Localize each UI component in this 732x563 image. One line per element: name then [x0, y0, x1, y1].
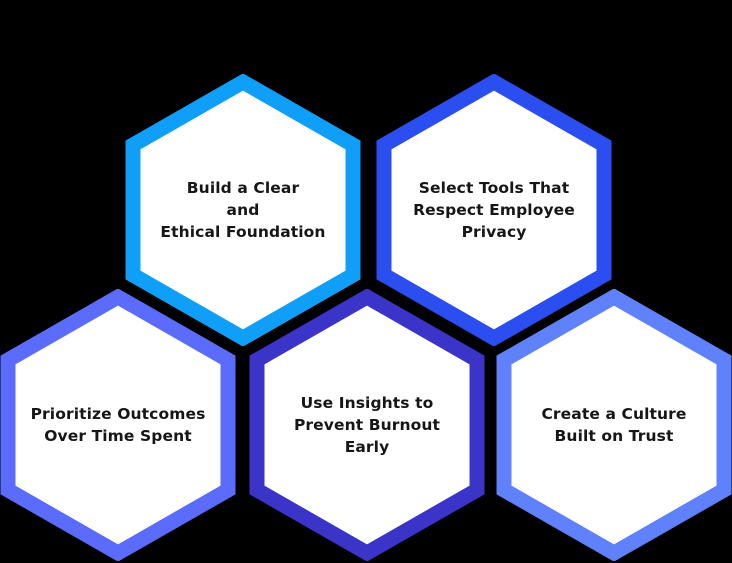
hexagon-shape-4: [249, 289, 485, 561]
hexagon-node-4[interactable]: Use Insights to Prevent Burnout Early: [249, 289, 485, 561]
hexagon-node-5[interactable]: Create a Culture Built on Trust: [496, 289, 732, 561]
hexagon-shape-3: [0, 289, 236, 561]
hexagon-shape-5: [496, 289, 732, 561]
diagram-canvas: Build a Clear and Ethical Foundation Sel…: [0, 0, 732, 563]
hexagon-outline-3: [8, 297, 228, 553]
hexagon-node-3[interactable]: Prioritize Outcomes Over Time Spent: [0, 289, 236, 561]
hexagon-outline-4: [257, 297, 477, 553]
hexagon-outline-5: [504, 297, 724, 553]
